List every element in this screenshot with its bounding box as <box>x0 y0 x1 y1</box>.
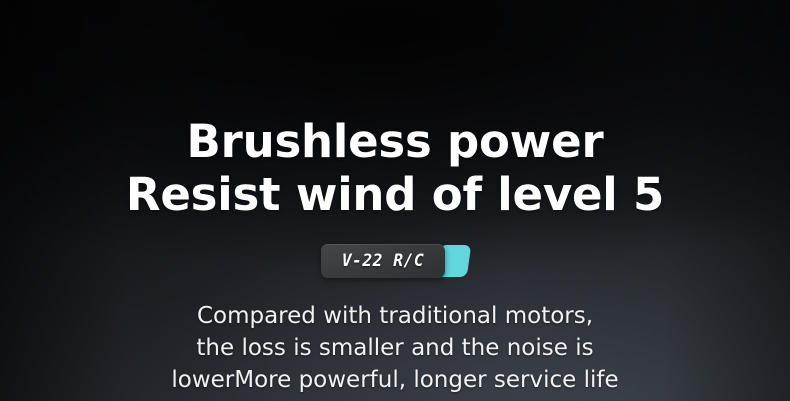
banner-content: Brushless power Resist wind of level 5 V… <box>0 0 790 401</box>
subtitle-block: Compared with traditional motors, the lo… <box>171 300 618 396</box>
badge-plate: V-22 R/C <box>321 244 445 278</box>
product-hero-banner: Brushless power Resist wind of level 5 V… <box>0 0 790 401</box>
badge-label: V-22 R/C <box>342 251 424 271</box>
model-badge: V-22 R/C <box>321 244 469 278</box>
subtitle-line-3: lowerMore powerful, longer service life <box>171 364 618 396</box>
subtitle-line-1: Compared with traditional motors, <box>171 300 618 332</box>
subtitle-line-2: the loss is smaller and the noise is <box>171 332 618 364</box>
headline-line-2: Resist wind of level 5 <box>126 169 664 221</box>
headline-line-1: Brushless power <box>187 116 604 168</box>
